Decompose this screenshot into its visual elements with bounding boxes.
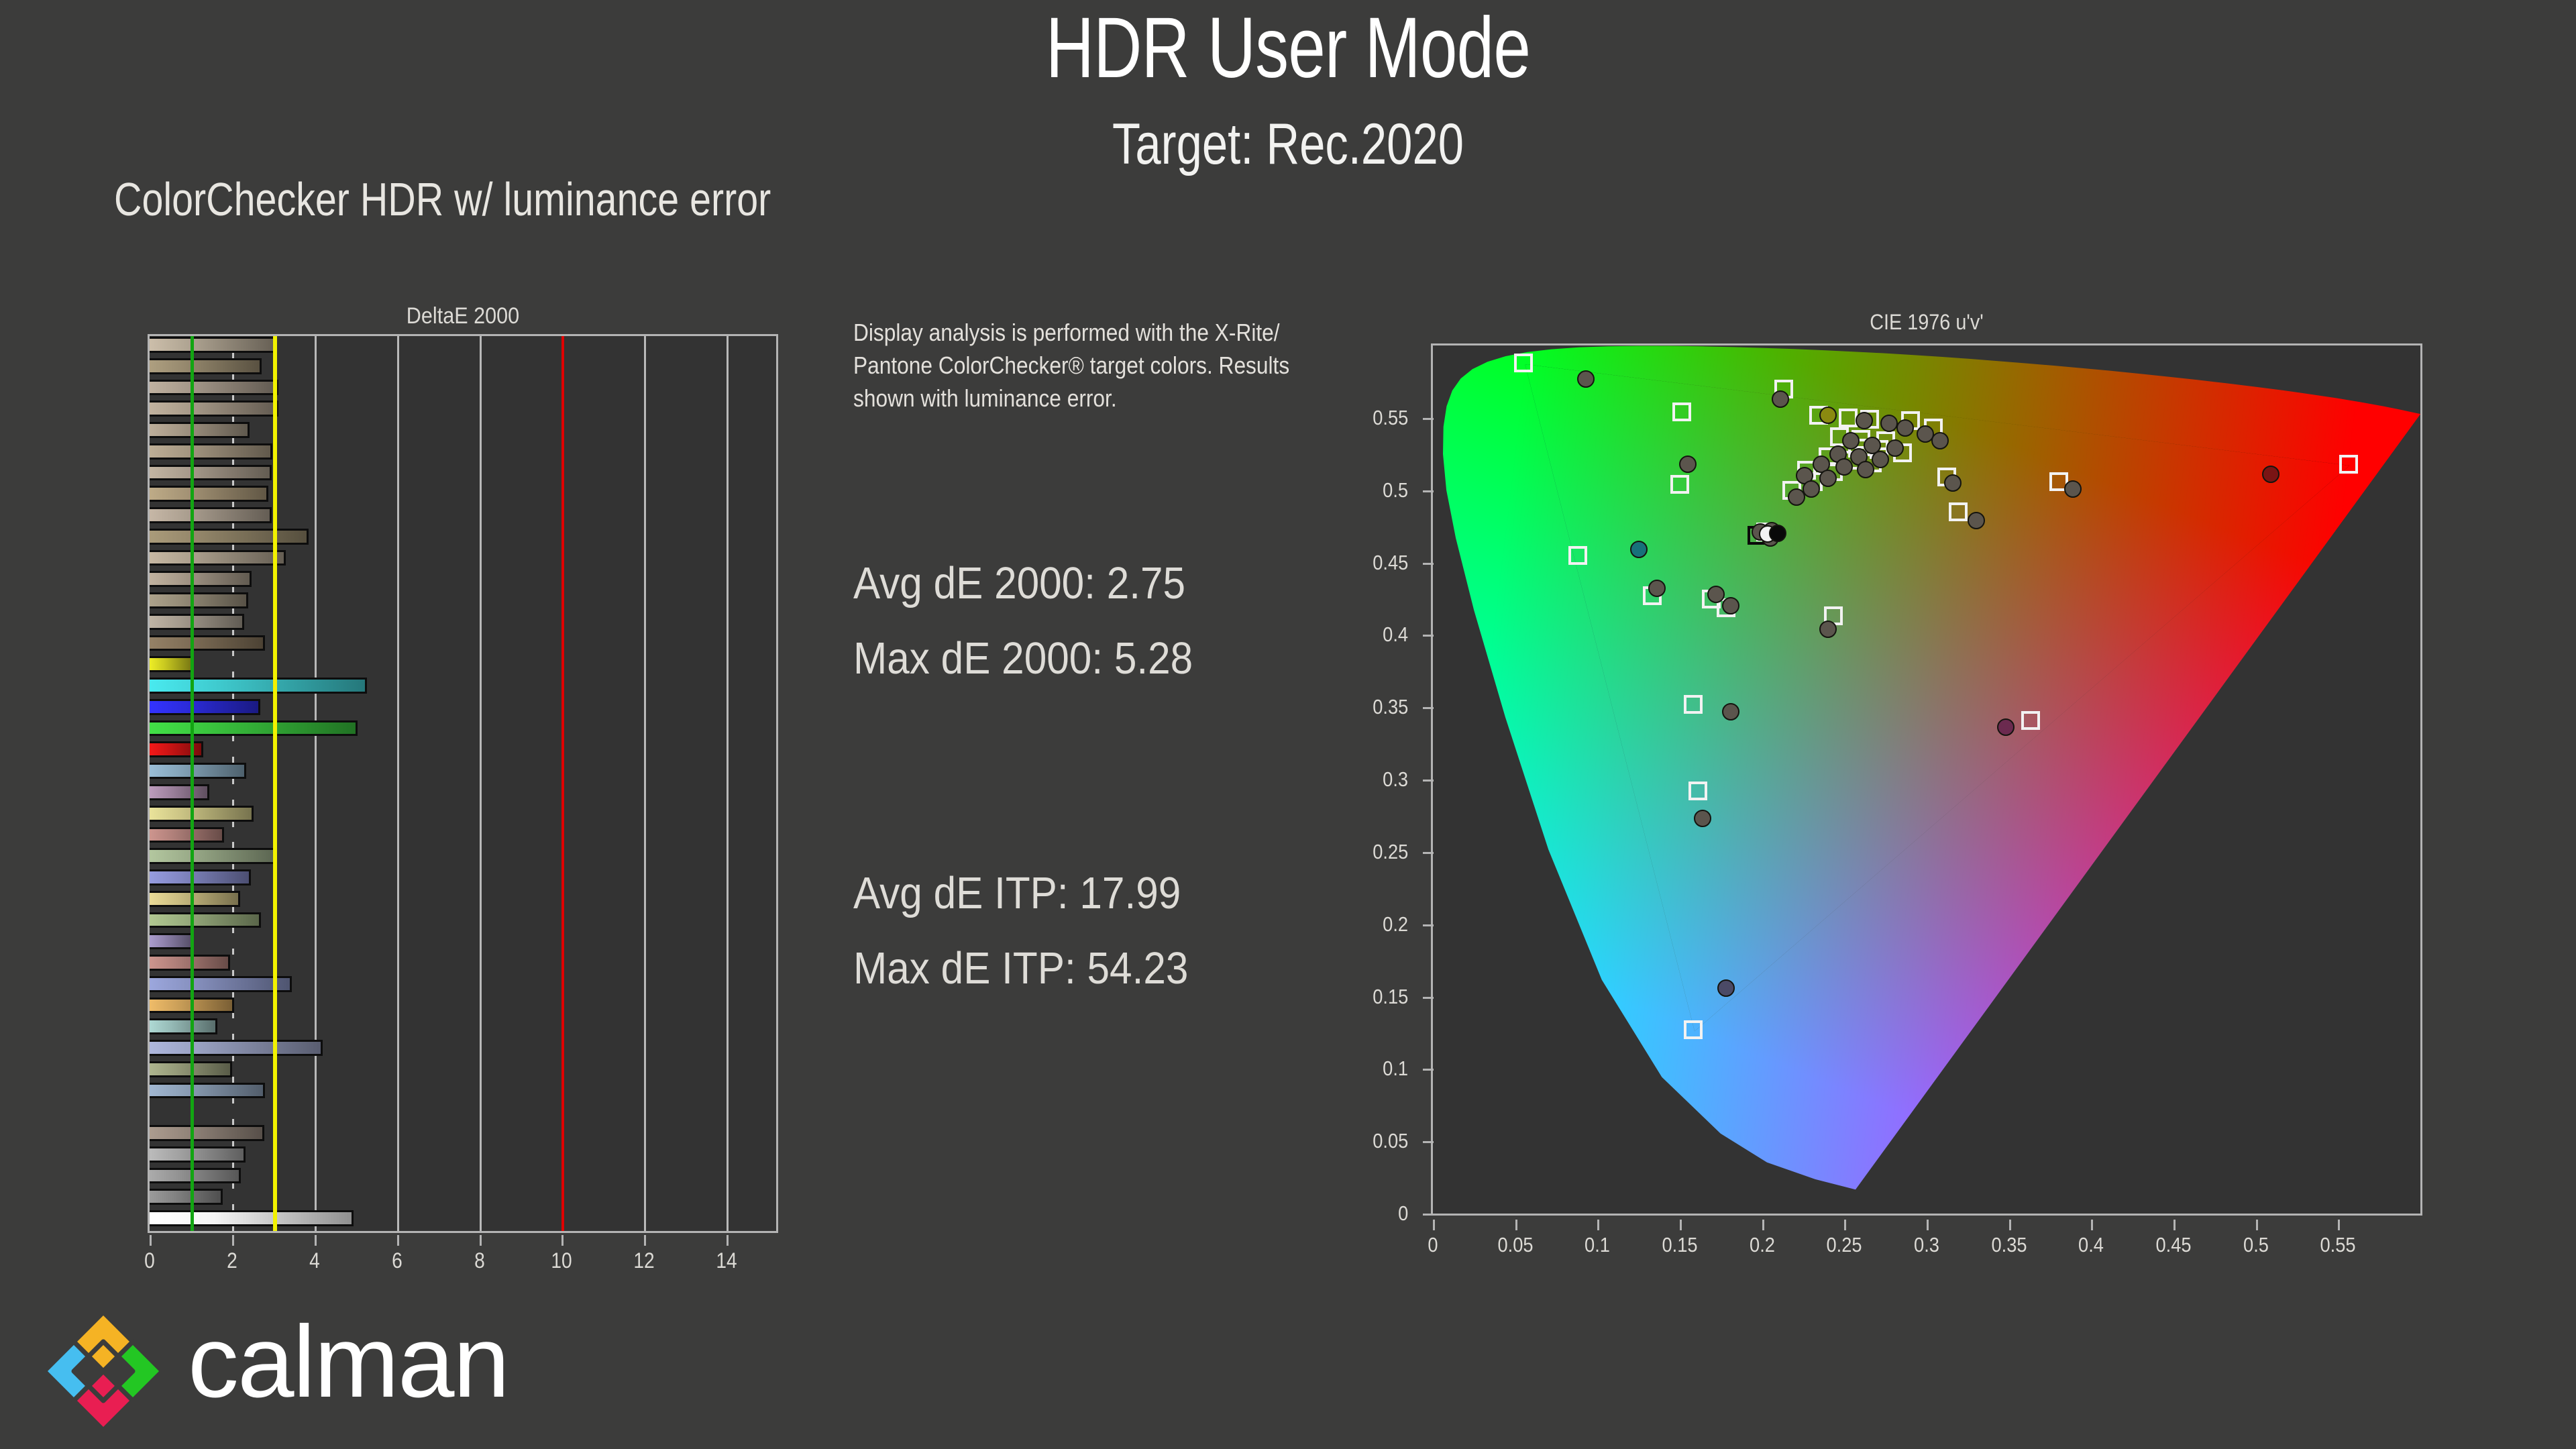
cie-measured-marker: [1707, 586, 1725, 603]
y-tick: [1423, 1069, 1434, 1071]
y-tick-label: 0.4: [1383, 623, 1408, 647]
x-tick: [480, 1235, 482, 1246]
y-tick-label: 0.3: [1383, 767, 1408, 792]
bar-row-tick: [232, 608, 234, 614]
bar-row-tick: [232, 650, 234, 656]
y-tick-label: 0.55: [1373, 406, 1408, 430]
cie-measured-marker: [1896, 419, 1914, 437]
y-tick-label: 0.1: [1383, 1057, 1408, 1081]
bar-row-tick: [232, 416, 234, 422]
cie-target-marker: [1514, 354, 1533, 372]
y-tick: [1423, 924, 1434, 926]
x-tick-label: 2: [227, 1248, 237, 1273]
report-page: HDR User Mode Target: Rec.2020 ColorChec…: [0, 0, 2576, 1449]
x-tick: [1680, 1220, 1682, 1230]
cie-target-marker: [1684, 695, 1703, 714]
bar-row-tick: [232, 480, 234, 486]
x-tick-label: 0.2: [1750, 1233, 1775, 1257]
y-tick: [1423, 563, 1434, 565]
bar-row-tick: [232, 629, 234, 635]
deltae-bar: [150, 848, 277, 864]
x-tick: [2338, 1220, 2340, 1230]
bar-row-tick: [232, 544, 234, 550]
deltae-bar: [150, 529, 309, 545]
y-tick: [1423, 490, 1434, 492]
bar-row-tick: [232, 459, 234, 465]
gridline-x: [315, 336, 317, 1231]
y-tick-label: 0.2: [1383, 912, 1408, 936]
cie-measured-marker: [1944, 474, 1962, 492]
deltae-bar: [150, 678, 367, 694]
x-tick: [397, 1235, 399, 1246]
bar-row-tick: [232, 800, 234, 806]
x-tick: [561, 1235, 563, 1246]
stat-avg-deitp: Avg dE ITP: 17.99: [853, 871, 1181, 916]
calman-logo: calman: [27, 1307, 671, 1434]
x-tick: [2091, 1220, 2093, 1230]
bar-row-tick: [232, 927, 234, 933]
deltae-bar: [150, 635, 265, 651]
x-tick-label: 0.15: [1662, 1233, 1697, 1257]
x-tick: [727, 1235, 729, 1246]
deltae-bar: [150, 571, 252, 587]
y-tick: [1423, 852, 1434, 854]
yellow-threshold: [273, 336, 277, 1231]
cie-measured-marker: [1630, 541, 1648, 558]
cie-measured-marker: [1997, 718, 2015, 736]
bar-row-tick: [232, 1012, 234, 1018]
bar-row-tick: [232, 842, 234, 848]
x-tick-label: 4: [309, 1248, 320, 1273]
x-tick-label: 0.1: [1585, 1233, 1610, 1257]
deltae-bar: [150, 955, 230, 971]
bar-row-tick: [232, 906, 234, 912]
cie-chart-title: CIE 1976 u'v': [1481, 310, 2373, 335]
bar-row-tick: [232, 778, 234, 784]
bar-row-tick: [232, 1097, 234, 1104]
deltae-bar: [150, 1083, 265, 1099]
cie-measured-marker: [1577, 370, 1595, 388]
deltae-bar: [150, 592, 248, 608]
calman-wordmark: calman: [188, 1311, 508, 1413]
cie-measured-marker: [1803, 480, 1820, 498]
bar-row-tick: [232, 885, 234, 891]
x-tick-label: 12: [634, 1248, 655, 1273]
x-tick-label: 10: [551, 1248, 572, 1273]
deltae-bar: [150, 400, 278, 417]
stat-max-de2000: Max dE 2000: 5.28: [853, 636, 1193, 681]
y-tick: [1423, 1214, 1434, 1216]
deltae-chart-title: DeltaE 2000: [179, 303, 747, 329]
page-title: HDR User Mode: [283, 5, 2292, 91]
deltae-bar: [150, 933, 193, 949]
bar-row-tick: [232, 523, 234, 529]
x-tick-label: 0.3: [1914, 1233, 1939, 1257]
bar-row-tick: [232, 1119, 234, 1125]
x-tick: [1927, 1220, 1929, 1230]
deltae-bar: [150, 1125, 264, 1141]
deltae-bar: [150, 784, 209, 800]
bar-row-tick: [232, 714, 234, 720]
cie-measured-marker: [1880, 415, 1898, 432]
cie-measured-marker: [2262, 466, 2279, 483]
deltae-bar: [150, 337, 275, 353]
deltae-bar: [150, 1168, 241, 1184]
bar-row-tick: [232, 757, 234, 763]
gridline-x: [727, 336, 729, 1231]
cie-measured-marker: [1819, 621, 1837, 638]
deltae-bar: [150, 976, 292, 992]
bar-row-tick: [232, 1034, 234, 1040]
deltae-bar: [150, 1018, 217, 1034]
deltae-bar: [150, 912, 261, 928]
y-tick-label: 0.45: [1373, 551, 1408, 575]
x-tick-label: 0.4: [2078, 1233, 2104, 1257]
cie-x-axis: 00.050.10.150.20.250.30.350.40.450.50.55: [1431, 1220, 2422, 1267]
deltae-bar: [150, 1040, 323, 1056]
bar-row-tick: [232, 1077, 234, 1083]
bar-row-tick: [232, 949, 234, 955]
deltae-bar: [150, 1210, 354, 1226]
y-tick: [1423, 418, 1434, 420]
red-threshold: [561, 336, 564, 1231]
cie-measured-marker: [1648, 580, 1666, 597]
deltae-bar: [150, 486, 268, 502]
x-tick: [1515, 1220, 1517, 1230]
y-tick-label: 0.25: [1373, 840, 1408, 864]
y-tick-label: 0.35: [1373, 695, 1408, 719]
cie-measured-marker: [1717, 979, 1735, 997]
bar-row-tick: [232, 735, 234, 741]
deltae-bar: [150, 507, 272, 523]
bar-row-tick: [232, 394, 234, 400]
deltae-bar: [150, 827, 224, 843]
bar-row-tick: [232, 863, 234, 869]
deltae-bar: [150, 614, 244, 630]
x-tick-label: 8: [474, 1248, 485, 1273]
x-tick-label: 0.25: [1827, 1233, 1862, 1257]
bar-row-tick: [232, 672, 234, 678]
x-tick-label: 14: [716, 1248, 737, 1273]
bar-row-tick: [232, 821, 234, 827]
cie-measured-marker: [2064, 480, 2082, 498]
cie-target-marker: [1670, 475, 1689, 494]
gridline-x: [480, 336, 482, 1231]
bar-row-tick: [232, 970, 234, 976]
cie-measured-marker: [1931, 432, 1949, 449]
x-tick-label: 0.55: [2320, 1233, 2356, 1257]
section-title: ColorChecker HDR w/ luminance error: [114, 176, 771, 223]
bar-row-tick: [232, 991, 234, 998]
bar-row-tick: [232, 352, 234, 358]
deltae-bar: [150, 869, 251, 885]
deltae-bar: [150, 443, 272, 460]
x-tick-label: 0.5: [2243, 1233, 2269, 1257]
calman-diamond-icon: [27, 1307, 181, 1434]
deltae-bar: [150, 1189, 223, 1205]
x-tick: [1762, 1220, 1764, 1230]
bar-row-tick: [232, 1183, 234, 1189]
cie-measured-marker: [1856, 412, 1873, 429]
bar-row-tick: [232, 1055, 234, 1061]
x-tick: [150, 1235, 152, 1246]
gridline-x: [644, 336, 646, 1231]
x-tick: [1844, 1220, 1846, 1230]
bar-row-tick: [232, 1226, 234, 1232]
x-tick: [1433, 1220, 1435, 1230]
y-tick: [1423, 707, 1434, 709]
cie-target-marker: [1568, 546, 1587, 565]
deltae-bar: [150, 806, 254, 822]
y-tick: [1423, 997, 1434, 999]
cie-measured-marker: [1772, 390, 1789, 408]
y-tick-label: 0.15: [1373, 985, 1408, 1009]
cie-target-marker: [1949, 502, 1968, 521]
bar-row-tick: [232, 565, 234, 571]
deltae-bar: [150, 380, 278, 396]
bar-row-tick: [232, 1162, 234, 1168]
deltae-bar: [150, 741, 203, 757]
stat-max-deitp: Max dE ITP: 54.23: [853, 946, 1188, 991]
bar-row-tick: [232, 501, 234, 507]
deltae-bar: [150, 656, 193, 672]
y-tick: [1423, 635, 1434, 637]
page-subtitle: Target: Rec.2020: [258, 115, 2318, 173]
deltae-bar: [150, 1146, 246, 1163]
x-tick: [2173, 1220, 2176, 1230]
x-tick-label: 0.45: [2155, 1233, 2191, 1257]
cie-target-marker: [2021, 711, 2040, 730]
x-tick-label: 0.05: [1497, 1233, 1533, 1257]
deltae-bar: [150, 422, 250, 438]
deltae-plot-area: [148, 334, 778, 1233]
x-tick-label: 0: [1428, 1233, 1438, 1257]
x-tick: [1597, 1220, 1599, 1230]
deltae-bar: [150, 763, 246, 779]
cie-plot-area: [1431, 343, 2422, 1216]
x-tick: [2009, 1220, 2011, 1230]
y-tick-label: 0: [1398, 1201, 1408, 1226]
cie-target-marker: [1684, 1020, 1703, 1039]
y-tick: [1423, 780, 1434, 782]
bar-row-tick: [232, 437, 234, 443]
bar-row-tick: [232, 1140, 234, 1146]
gridline-x: [397, 336, 399, 1231]
deltae-x-axis: 02468101214: [148, 1235, 778, 1282]
cie-measured-marker: [1722, 703, 1739, 720]
cie-target-marker: [1839, 409, 1858, 427]
analysis-description: Display analysis is performed with the X…: [853, 317, 1302, 415]
deltae-bar: [150, 550, 286, 566]
bar-row-tick: [232, 374, 234, 380]
green-threshold: [191, 336, 194, 1231]
x-tick-label: 6: [392, 1248, 402, 1273]
cie-measured-marker: [1679, 455, 1697, 473]
deltae-bar: [150, 699, 260, 715]
cie-target-marker: [2339, 455, 2358, 474]
bar-row-tick: [232, 1204, 234, 1210]
cie-measured-marker: [1968, 512, 1985, 529]
bar-row-tick: [232, 586, 234, 592]
y-tick: [1423, 1141, 1434, 1143]
x-tick: [315, 1235, 317, 1246]
x-tick-label: 0.35: [1991, 1233, 2027, 1257]
x-tick: [2256, 1220, 2258, 1230]
y-tick-label: 0.5: [1383, 478, 1408, 502]
deltae-bar: [150, 465, 272, 481]
x-tick: [644, 1235, 646, 1246]
x-tick-label: 0: [144, 1248, 155, 1273]
cie-measured-marker: [1819, 407, 1837, 424]
deltae-bar: [150, 891, 240, 907]
stat-avg-de2000: Avg dE 2000: 2.75: [853, 561, 1185, 606]
deltae-bar: [150, 720, 358, 737]
y-tick-label: 0.05: [1373, 1129, 1408, 1153]
x-tick: [232, 1235, 234, 1246]
cie-target-marker: [1688, 782, 1707, 800]
bar-row-tick: [232, 693, 234, 699]
deltae-bar: [150, 358, 262, 374]
cie-target-marker: [1672, 402, 1691, 421]
